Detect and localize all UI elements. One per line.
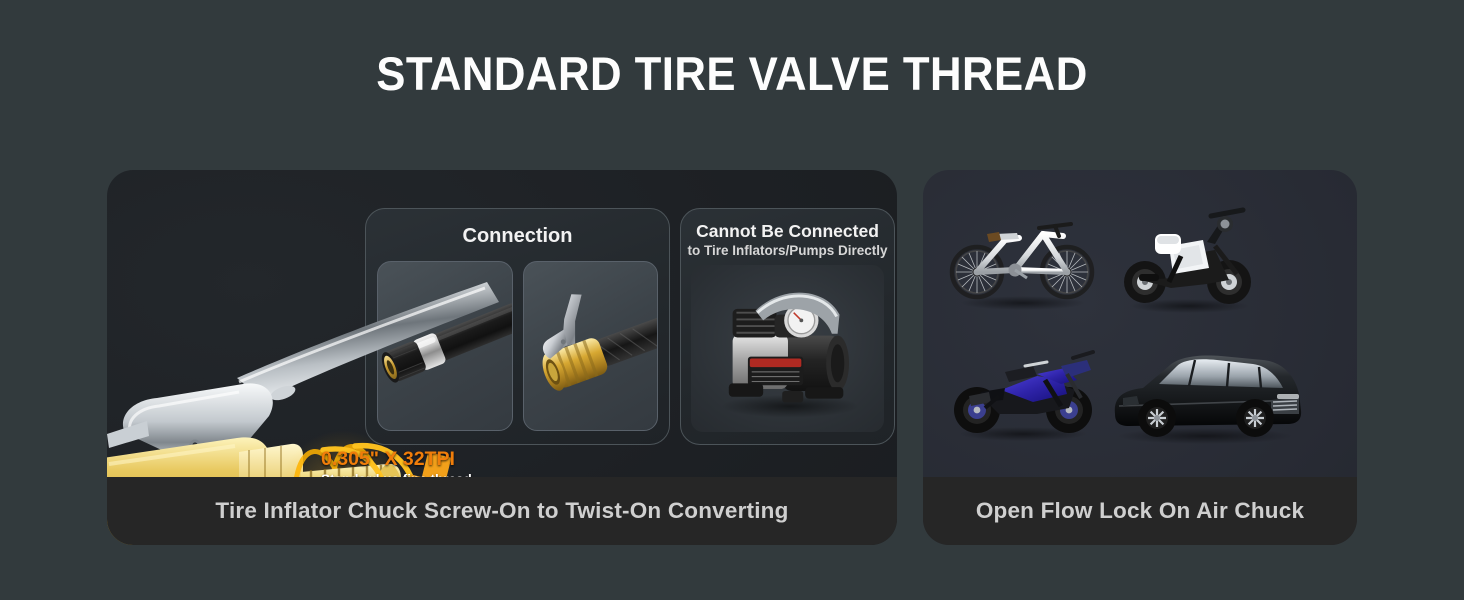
panel-right-caption: Open Flow Lock On Air Chuck	[923, 477, 1357, 545]
sedan-car-image	[1103, 338, 1308, 448]
lever-lock-chuck-on-hose-icon	[524, 262, 658, 430]
connection-subcards	[377, 261, 658, 431]
card-cannot-subtitle: to Tire Inflators/Pumps Directly	[681, 243, 894, 258]
page-title: STANDARD TIRE VALVE THREAD	[51, 46, 1413, 101]
card-cannot-title: Cannot Be Connected	[681, 221, 894, 242]
card-connection-title: Connection	[366, 225, 669, 248]
subcard-hose-end	[377, 261, 513, 431]
hose-end-with-brass-thread-icon	[378, 262, 512, 430]
compressor-photo-stage	[691, 265, 884, 432]
subcard-lever-chuck	[523, 261, 659, 431]
panel-right-body	[923, 170, 1357, 477]
panel-left-caption: Tire Inflator Chuck Screw-On to Twist-On…	[107, 477, 897, 545]
portable-air-compressor-icon	[691, 265, 884, 432]
panel-open-flow-lock-on: Open Flow Lock On Air Chuck	[923, 170, 1357, 545]
electric-scooter-image	[1111, 198, 1266, 318]
panel-left-body: Connection	[107, 170, 897, 477]
panel-screw-on-converting: Connection	[107, 170, 897, 545]
thread-spec-value: 0.305" X 32TPI	[321, 448, 501, 471]
mountain-bicycle-image	[943, 200, 1103, 315]
card-connection: Connection	[365, 208, 670, 445]
sport-motorcycle-image	[941, 330, 1106, 445]
infographic-stage: STANDARD TIRE VALVE THREAD Connection	[0, 0, 1464, 600]
card-cannot-be-connected: Cannot Be Connected to Tire Inflators/Pu…	[680, 208, 895, 445]
